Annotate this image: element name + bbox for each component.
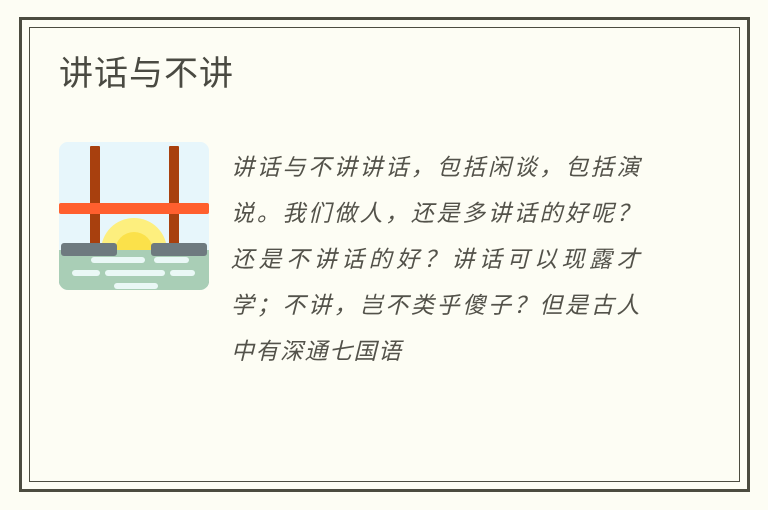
bridge-sunset-illustration	[59, 142, 209, 290]
page-title: 讲话与不讲	[59, 52, 679, 96]
wave-bar-4	[105, 270, 165, 276]
wave-bar-6	[114, 283, 158, 289]
bridge-deck	[59, 203, 209, 214]
tower-right	[169, 146, 179, 252]
content-area: 讲话与不讲	[59, 52, 679, 375]
wave-bar-2	[154, 257, 189, 263]
pier-right	[151, 243, 207, 256]
article-body-text: 讲话与不讲讲话，包括闲谈，包括演说。我们做人，还是多讲话的好呢？还是不讲话的好？…	[231, 145, 641, 375]
page-root: 讲话与不讲	[0, 0, 768, 510]
wave-bar-1	[91, 257, 145, 263]
tower-left	[90, 146, 100, 252]
article-block: 讲话与不讲讲话，包括闲谈，包括演说。我们做人，还是多讲话的好呢？还是不讲话的好？…	[59, 142, 679, 375]
wave-bar-5	[170, 270, 195, 276]
wave-bar-3	[72, 270, 100, 276]
pier-left	[61, 243, 117, 256]
